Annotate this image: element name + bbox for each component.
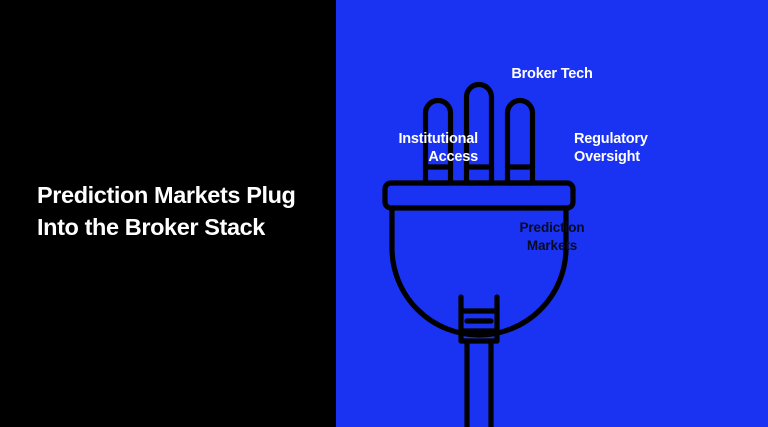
headline: Prediction Markets Plug Into the Broker … [0,180,314,243]
prong-right-icon [508,101,533,184]
slide-root: Prediction Markets Plug Into the Broker … [0,0,768,427]
left-text-panel: Prediction Markets Plug Into the Broker … [0,0,336,427]
right-illustration-panel: Broker Tech Institutional Access Regulat… [336,0,768,427]
label-prediction-markets: Prediction Markets [336,219,768,254]
plug-illustration-svg [336,0,768,427]
plug-diagram: Broker Tech Institutional Access Regulat… [336,0,768,427]
label-institutional-access: Institutional Access [348,131,478,166]
label-regulatory-oversight: Regulatory Oversight [574,131,744,166]
plug-collar-icon [385,183,573,208]
label-broker-tech: Broker Tech [336,66,768,84]
